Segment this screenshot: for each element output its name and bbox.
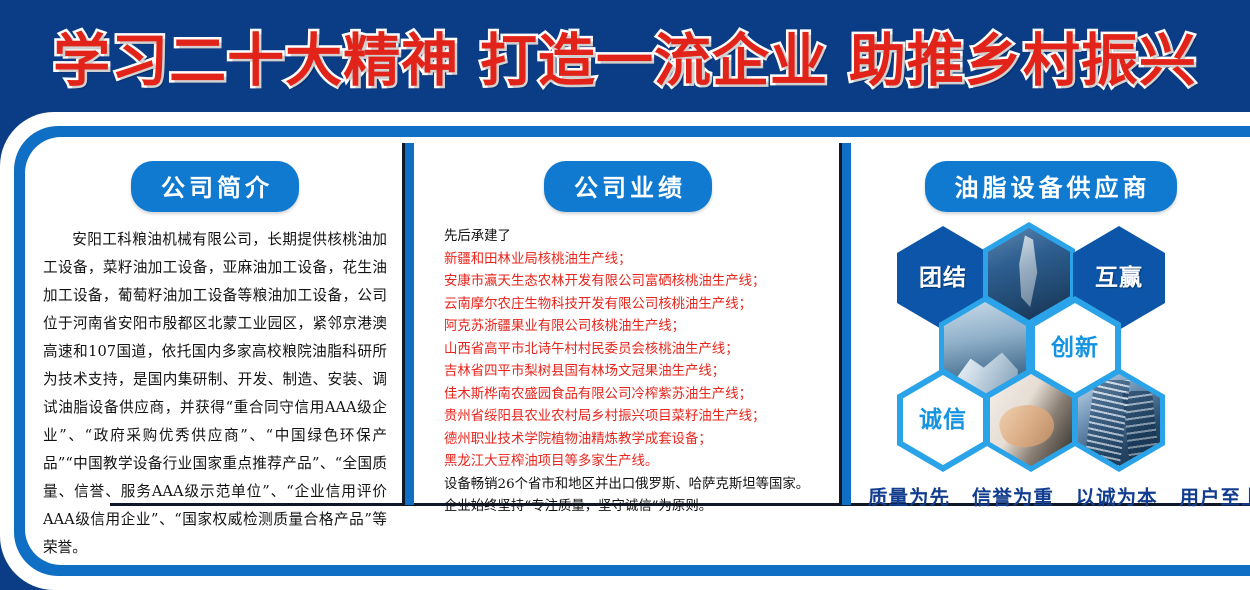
hexagon-label: 团结: [919, 267, 967, 290]
hexagon-label: 互赢: [1095, 267, 1143, 290]
achievement-item: 德州职业技术学院植物油精炼教学成套设备；: [444, 429, 824, 452]
slogan-part: 信誉为重: [972, 486, 1054, 509]
skyscraper-photo-icon: [1078, 374, 1160, 466]
panel-divider-left: [405, 143, 414, 505]
slogan-part: 以诚为本: [1076, 486, 1158, 509]
achievement-item: 佳木斯桦南农盛园食品有限公司冷榨紫苏油生产线；: [444, 384, 824, 407]
banner-header: 学习二十大精神 打造一流企业 助推乡村振兴: [0, 0, 1250, 112]
banner-title: 学习二十大精神 打造一流企业 助推乡村振兴: [53, 15, 1197, 97]
handshake-photo-icon: [990, 374, 1072, 466]
supplier-slogan: 质量为先 信誉为重 以诚为本 用户至上: [861, 481, 1240, 510]
panel-divider-right: [842, 143, 851, 505]
achievement-item: 山西省高平市北诗午村村民委员会核桃油生产线；: [444, 339, 824, 362]
hexagon-inner: 诚信: [903, 375, 983, 465]
panel-right-heading: 油脂设备供应商: [925, 161, 1177, 212]
achievement-item: 吉林省四平市梨树县国有林场文冠果油生产线；: [444, 361, 824, 384]
achievements-footer-line: 企业始终坚持“专注质量，坚守诚信”为原则。: [444, 496, 824, 519]
achievement-item: 安康市瀛天生态农林开发有限公司富硒核桃油生产线；: [444, 271, 824, 294]
achievements-footer-line: 设备畅销26个省市和地区并出口俄罗斯、哈萨克斯坦等国家。: [444, 474, 824, 497]
panel-supplier: 油脂设备供应商 团结 互赢 创新 诚信: [851, 143, 1250, 505]
achievement-item: 云南摩尔农庄生物科技开发有限公司核桃油生产线；: [444, 294, 824, 317]
company-profile-text: 安阳工科粮油机械有限公司，长期提供核桃油加工设备，菜籽油加工设备，亚麻油加工设备…: [43, 226, 387, 562]
slogan-part: 质量为先: [868, 486, 950, 509]
slogan-part: 用户至上: [1179, 486, 1250, 509]
hexagon-label: 创新: [1051, 337, 1099, 360]
hexagon-label: 诚信: [919, 409, 967, 432]
achievement-item: 阿克苏浙疆果业有限公司核桃油生产线；: [444, 316, 824, 339]
panel-company-achievements: 公司业绩 先后承建了 新疆和田林业局核桃油生产线； 安康市瀛天生态农林开发有限公…: [414, 143, 842, 505]
hexagon-value-cluster: 团结 互赢 创新 诚信: [861, 222, 1240, 467]
achievement-item: 黑龙江大豆榨油项目等多家生产线。: [444, 451, 824, 474]
achievements-list: 先后承建了 新疆和田林业局核桃油生产线； 安康市瀛天生态农林开发有限公司富硒核桃…: [432, 226, 824, 519]
panel-left-heading: 公司简介: [131, 161, 299, 212]
achievements-intro: 先后承建了: [444, 226, 824, 249]
achievement-item: 贵州省绥阳县农业农村局乡村振兴项目菜籽油生产线；: [444, 406, 824, 429]
panel-middle-heading: 公司业绩: [544, 161, 712, 212]
achievement-item: 新疆和田林业局核桃油生产线；: [444, 249, 824, 272]
panel-company-profile: 公司简介 安阳工科粮油机械有限公司，长期提供核桃油加工设备，菜籽油加工设备，亚麻…: [25, 143, 405, 505]
